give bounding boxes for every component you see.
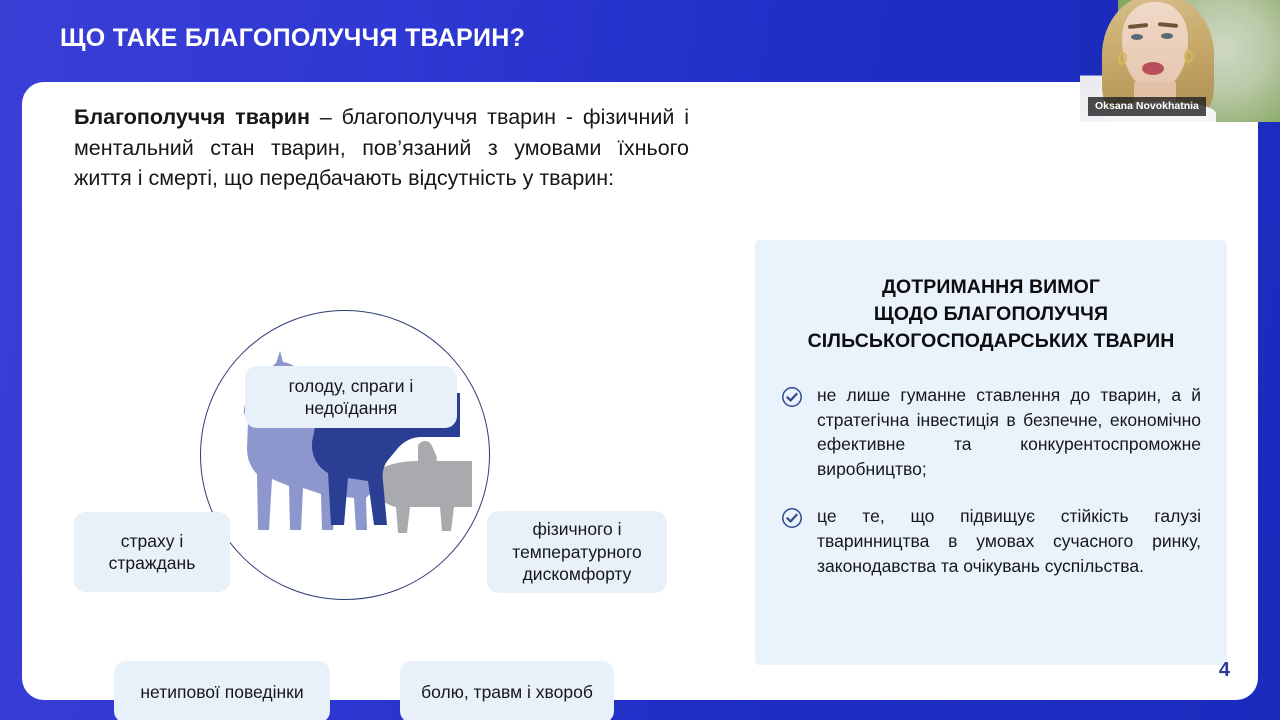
page-title: ЩО ТАКЕ БЛАГОПОЛУЧЧЯ ТВАРИН? [60, 24, 525, 53]
info-heading-line-3: СІЛЬСЬКОГОСПОДАРСЬКИХ ТВАРИН [781, 328, 1201, 355]
diagram-node-top: голоду, спраги і недоїдання [245, 366, 457, 428]
page-number: 4 [1219, 659, 1230, 682]
eye-left [1131, 34, 1143, 40]
diagram-node-bottom-left: нетипової поведінки [114, 661, 330, 720]
list-item: це те, що підвищує стійкість галузі твар… [781, 504, 1201, 579]
bullet-text: це те, що підвищує стійкість галузі твар… [817, 504, 1201, 579]
info-panel-heading: ДОТРИМАННЯ ВИМОГ ЩОДО БЛАГОПОЛУЧЧЯ СІЛЬС… [781, 274, 1201, 355]
diagram-node-left: страху і страждань [74, 512, 230, 592]
farm-animals-silhouette-icon [222, 317, 492, 577]
slide-root: ЩО ТАКЕ БЛАГОПОЛУЧЧЯ ТВАРИН? Благополучч… [0, 0, 1280, 720]
definition-paragraph: Благополуччя тварин – благополуччя твари… [74, 102, 689, 194]
diagram-node-right: фізичного і температурного дискомфорту [487, 511, 667, 593]
list-item: не лише гуманне ставлення до тварин, а й… [781, 383, 1201, 482]
webcam-participant-name: Oksana Novokhatnia [1088, 97, 1206, 116]
definition-term: Благополуччя тварин [74, 105, 310, 129]
welfare-circle-diagram: голоду, спраги і недоїдання фізичного і … [52, 262, 712, 692]
earring-right-icon [1184, 50, 1193, 63]
info-panel-bullet-list: не лише гуманне ставлення до тварин, а й… [781, 383, 1201, 579]
info-heading-line-1: ДОТРИМАННЯ ВИМОГ [781, 274, 1201, 301]
requirements-info-panel: ДОТРИМАННЯ ВИМОГ ЩОДО БЛАГОПОЛУЧЧЯ СІЛЬС… [755, 240, 1227, 665]
check-circle-icon [781, 386, 803, 408]
face-shape [1122, 2, 1188, 88]
lips-shape [1142, 62, 1164, 75]
check-circle-icon [781, 507, 803, 529]
content-card: Благополуччя тварин – благополуччя твари… [22, 82, 1258, 700]
bullet-text: не лише гуманне ставлення до тварин, а й… [817, 383, 1201, 482]
info-heading-line-2: ЩОДО БЛАГОПОЛУЧЧЯ [781, 301, 1201, 328]
earring-left-icon [1118, 52, 1127, 65]
diagram-node-bottom-right: болю, травм і хвороб [400, 661, 614, 720]
webcam-video-tile[interactable]: Oksana Novokhatnia [1080, 0, 1280, 122]
eye-right [1161, 33, 1173, 39]
